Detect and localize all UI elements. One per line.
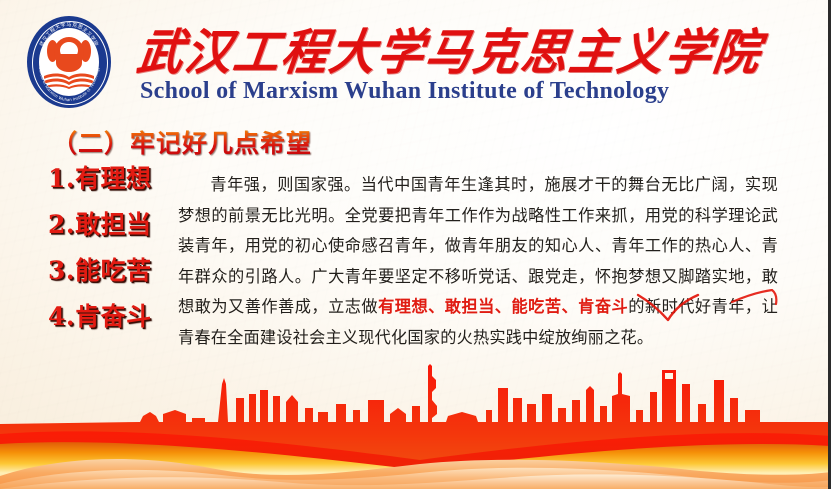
open-book-icon (43, 70, 95, 90)
emblem-core (39, 28, 99, 96)
key-point-item: 3.能吃苦 (48, 258, 178, 283)
institution-title-english: School of Marxism Wuhan Institute of Tec… (140, 78, 669, 105)
paragraph-highlight: 有理想、敢担当、能吃苦、肯奋斗 (378, 297, 628, 316)
key-points-list: 1.有理想 2.敢担当 3.能吃苦 4.肯奋斗 (48, 166, 178, 329)
key-point-item: 1.有理想 (48, 166, 178, 191)
bottom-decorative-artwork (0, 364, 831, 489)
slide-header: 武汉工程大学马克思主义学院 School of Marxism Wuhan In… (0, 0, 831, 118)
section-heading: （二）牢记好几点希望 (52, 124, 312, 160)
slide-canvas: 武汉工程大学马克思主义学院 School of Marxism Wuhan In… (0, 0, 831, 489)
building-window-detail (665, 373, 673, 379)
paragraph-part-one: 青年强，则国家强。当代中国青年生逢其时，施展才干的舞台无比广阔，实现梦想的前景无… (178, 175, 778, 316)
school-emblem-logo: 武汉工程大学马克思主义学院 School of Marxism Wuhan In… (27, 16, 111, 108)
key-point-item: 4.肯奋斗 (48, 304, 178, 329)
key-point-item: 2.敢担当 (48, 212, 178, 237)
institution-title-chinese: 武汉工程大学马克思主义学院 (134, 14, 767, 84)
skyline-and-hills-illustration (0, 364, 831, 489)
body-paragraph: 青年强，则国家强。当代中国青年生逢其时，施展才干的舞台无比广阔，实现梦想的前景无… (178, 170, 778, 353)
